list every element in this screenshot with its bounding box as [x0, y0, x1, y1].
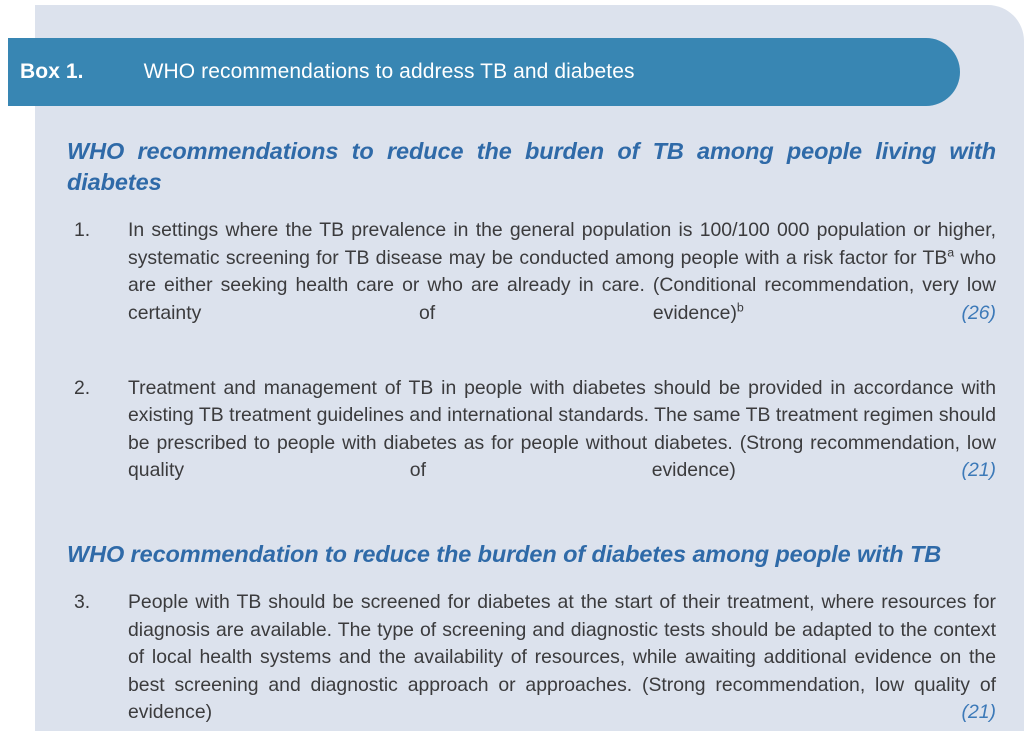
citation-ref-21-b: (21) — [962, 701, 996, 723]
footnote-ref-b: b — [737, 300, 744, 314]
recommendation-number-2: 2. — [74, 375, 90, 403]
recommendation-text-1: In settings where the TB prevalence in t… — [128, 217, 996, 355]
box-content: WHO recommendations to reduce the burden… — [35, 112, 1024, 754]
recommendation-text-1-part-a: In settings where the TB prevalence in t… — [128, 219, 996, 269]
recommendation-text-3: People with TB should be screened for di… — [128, 589, 996, 754]
recommendation-list-2: 3. People with TB should be screened for… — [65, 589, 996, 754]
box-header-bar: Box 1. WHO recommendations to address TB… — [8, 38, 960, 106]
section-heading-tb-among-diabetes: WHO recommendations to reduce the burden… — [65, 136, 996, 197]
citation-ref-26: (26) — [962, 302, 996, 324]
recommendation-number-1: 1. — [74, 217, 90, 245]
recommendation-item-3: 3. People with TB should be screened for… — [65, 589, 996, 754]
recommendation-item-2: 2. Treatment and management of TB in peo… — [65, 375, 996, 513]
recommendation-item-1: 1. In settings where the TB prevalence i… — [65, 217, 996, 355]
recommendation-text-2: Treatment and management of TB in people… — [128, 375, 996, 513]
section-heading-diabetes-among-tb: WHO recommendation to reduce the burden … — [65, 539, 996, 570]
recommendation-number-3: 3. — [74, 589, 90, 617]
recommendation-text-2-body: Treatment and management of TB in people… — [128, 377, 996, 482]
box-number-label: Box 1. — [20, 60, 84, 84]
recommendation-list-1: 1. In settings where the TB prevalence i… — [65, 217, 996, 512]
box-title: WHO recommendations to address TB and di… — [144, 60, 635, 84]
recommendation-text-3-body: People with TB should be screened for di… — [128, 591, 996, 723]
citation-ref-21-a: (21) — [962, 459, 996, 481]
